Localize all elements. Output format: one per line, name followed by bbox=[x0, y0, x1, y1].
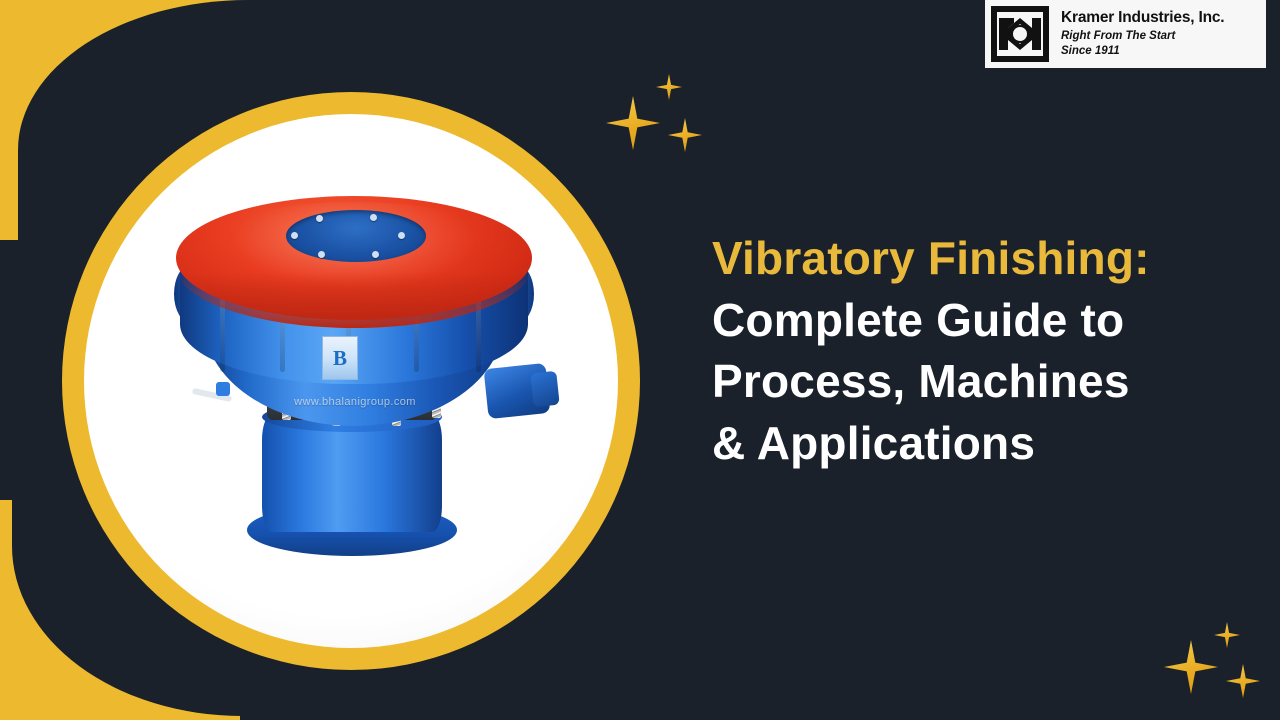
headline-line-2: Complete Guide to bbox=[712, 290, 1260, 352]
product-photo-frame: B www.bhalanigroup.com bbox=[62, 92, 640, 670]
machine-drain-valve bbox=[216, 382, 230, 396]
sparkle-icon bbox=[1214, 622, 1240, 648]
machine-center-hub bbox=[286, 210, 426, 262]
machine-hub-bolt bbox=[370, 214, 377, 221]
brand-since: Since 1911 bbox=[1061, 46, 1224, 58]
headline-line-3: Process, Machines bbox=[712, 351, 1260, 413]
brand-logo-card: Kramer Industries, Inc. Right From The S… bbox=[985, 0, 1266, 68]
photo-watermark: www.bhalanigroup.com bbox=[230, 396, 480, 408]
machine-hub-bolt bbox=[398, 232, 405, 239]
headline-line-1: Vibratory Finishing: bbox=[712, 228, 1260, 290]
sparkle-icon bbox=[656, 74, 682, 100]
machine-hub-bolt bbox=[318, 251, 325, 258]
brand-tagline: Right From The Start bbox=[1061, 31, 1224, 43]
sparkle-icon bbox=[1226, 664, 1260, 698]
machine-hub-bolt bbox=[291, 232, 298, 239]
machine-hub-bolt bbox=[372, 251, 379, 258]
sparkle-cluster-bottom bbox=[1160, 618, 1280, 720]
brand-logo-text: Kramer Industries, Inc. Right From The S… bbox=[1061, 10, 1224, 58]
vibratory-bowl-machine-illustration: B www.bhalanigroup.com bbox=[84, 114, 618, 648]
sparkle-icon bbox=[668, 118, 702, 152]
machine-brand-badge: B bbox=[322, 336, 358, 380]
sparkle-icon bbox=[606, 96, 660, 150]
machine-motor-cap bbox=[530, 371, 559, 408]
monogram-inner-plate bbox=[997, 12, 1043, 56]
banner-canvas: B www.bhalanigroup.com Vibratory Finishi… bbox=[0, 0, 1280, 720]
machine-hub-bolt bbox=[316, 215, 323, 222]
headline-block: Vibratory Finishing: Complete Guide to P… bbox=[712, 228, 1260, 475]
headline-line-4: & Applications bbox=[712, 413, 1260, 475]
sparkle-icon bbox=[1164, 640, 1218, 694]
product-photo: B www.bhalanigroup.com bbox=[84, 114, 618, 648]
sparkle-cluster-top bbox=[600, 68, 720, 178]
kramer-k-monogram-icon bbox=[991, 6, 1049, 62]
monogram-glyph bbox=[999, 18, 1041, 50]
brand-company-name: Kramer Industries, Inc. bbox=[1061, 10, 1224, 26]
